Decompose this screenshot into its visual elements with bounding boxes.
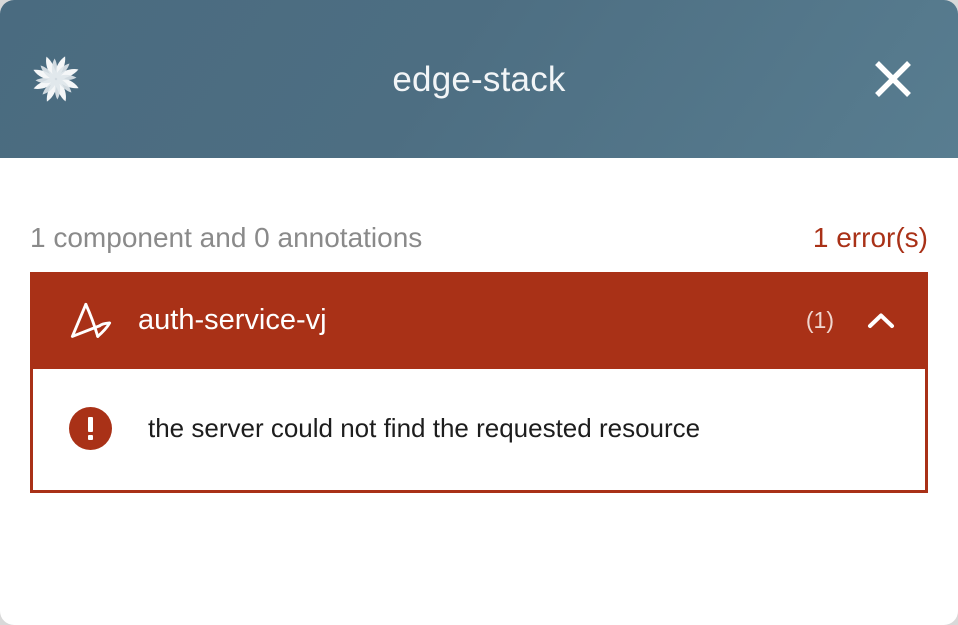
error-message-text: the server could not find the requested … <box>148 413 700 444</box>
error-count-badge: 1 error(s) <box>813 224 928 252</box>
page-title: edge-stack <box>0 62 958 97</box>
component-name-label: auth-service-vj <box>138 306 806 335</box>
component-error-panel: the server could not find the requested … <box>30 369 928 493</box>
component-group-auth-service-vj: auth-service-vj (1) the s <box>30 272 928 493</box>
edge-stack-modal: edge-stack 1 component and 0 annotations… <box>0 0 958 625</box>
component-summary-text: 1 component and 0 annotations <box>30 224 422 252</box>
modal-header: edge-stack <box>0 0 958 158</box>
component-error-count: (1) <box>806 309 834 332</box>
close-button[interactable] <box>864 50 922 108</box>
ambassador-a-icon <box>68 300 114 342</box>
summary-row: 1 component and 0 annotations 1 error(s) <box>30 158 928 272</box>
list-item: the server could not find the requested … <box>33 399 925 458</box>
pinwheel-rosette-icon <box>28 50 84 108</box>
modal-body: 1 component and 0 annotations 1 error(s)… <box>0 158 958 493</box>
close-icon <box>871 57 915 101</box>
component-header-toggle[interactable]: auth-service-vj (1) <box>30 272 928 369</box>
error-exclamation-icon <box>69 407 112 450</box>
chevron-up-icon[interactable] <box>864 304 898 338</box>
